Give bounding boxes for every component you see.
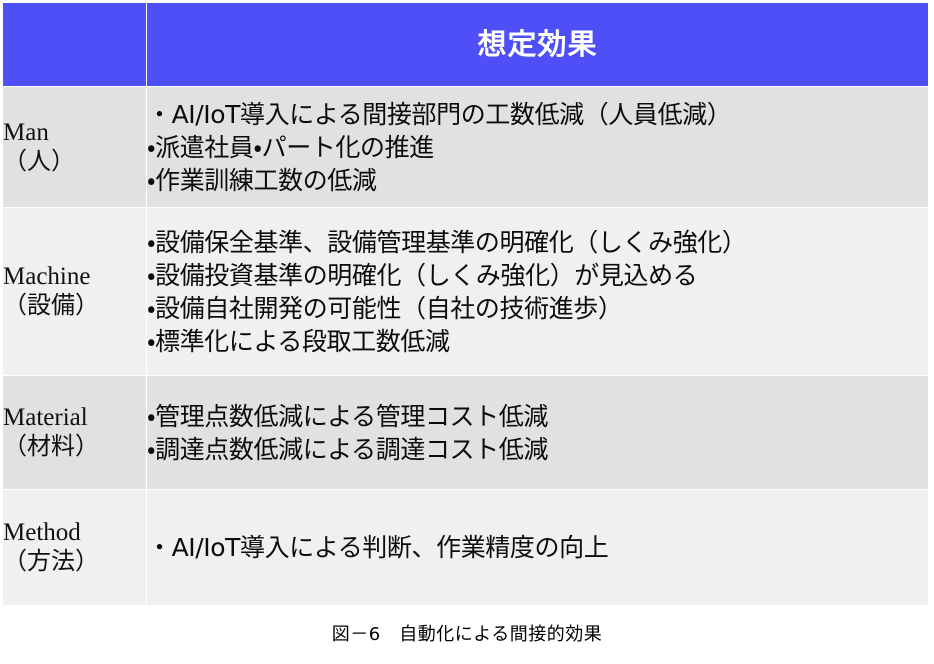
row-label-en: Machine [3,263,146,291]
list-item: ・AI/IoT導入による判断、作業精度の向上 [147,531,928,564]
header-title-text: 想定効果 [147,30,928,59]
header-row: 想定効果 [3,3,929,87]
row-content-method: ・AI/IoT導入による判断、作業精度の向上 [147,490,929,606]
row-label-man: Man （人） [3,87,147,208]
list-item: ・標準化による段取工数低減 [147,325,928,358]
list-item: ・作業訓練工数の低減 [147,164,928,197]
row-content-machine: ・設備保全基準、設備管理基準の明確化（しくみ強化） ・設備投資基準の明確化（しく… [147,208,929,376]
row-label-material: Material （材料） [3,376,147,490]
table-row: Man （人） ・AI/IoT導入による間接部門の工数低減（人員低減） ・派遣社… [3,87,929,208]
table-row: Method （方法） ・AI/IoT導入による判断、作業精度の向上 [3,490,929,606]
table-body: Man （人） ・AI/IoT導入による間接部門の工数低減（人員低減） ・派遣社… [3,87,929,606]
bullet-list: ・AI/IoT導入による判断、作業精度の向上 [147,531,928,564]
list-item: ・設備自社開発の可能性（自社の技術進歩） [147,292,928,325]
list-item: ・派遣社員・パート化の推進 [147,131,928,164]
row-label-jp: （設備） [3,291,146,320]
header-cell-title: 想定効果 [147,3,929,87]
row-label-jp: （材料） [3,432,146,461]
list-item: ・設備保全基準、設備管理基準の明確化（しくみ強化） [147,226,928,259]
row-label-machine: Machine （設備） [3,208,147,376]
list-item: ・設備投資基準の明確化（しくみ強化）が見込める [147,259,928,292]
row-label-method: Method （方法） [3,490,147,606]
list-item: ・管理点数低減による管理コスト低減 [147,400,928,433]
figure-caption: 図－6 自動化による間接的効果 [0,620,934,646]
table-row: Machine （設備） ・設備保全基準、設備管理基準の明確化（しくみ強化） ・… [3,208,929,376]
list-item: ・調達点数低減による調達コスト低減 [147,433,928,466]
bullet-list: ・設備保全基準、設備管理基準の明確化（しくみ強化） ・設備投資基準の明確化（しく… [147,226,928,358]
row-label-en: Material [3,404,146,432]
row-content-material: ・管理点数低減による管理コスト低減 ・調達点数低減による調達コスト低減 [147,376,929,490]
bullet-list: ・管理点数低減による管理コスト低減 ・調達点数低減による調達コスト低減 [147,400,928,466]
table-row: Material （材料） ・管理点数低減による管理コスト低減 ・調達点数低減に… [3,376,929,490]
table-header: 想定効果 [3,3,929,87]
header-cell-blank [3,3,147,87]
effects-table-container: 想定効果 Man （人） ・AI/IoT導入による間接部門の工数低減（人員低減）… [2,2,928,600]
row-label-jp: （方法） [3,547,146,576]
row-content-man: ・AI/IoT導入による間接部門の工数低減（人員低減） ・派遣社員・パート化の推… [147,87,929,208]
expected-effects-table: 想定効果 Man （人） ・AI/IoT導入による間接部門の工数低減（人員低減）… [2,2,929,606]
row-label-en: Method [3,519,146,547]
row-label-jp: （人） [3,147,146,176]
list-item: ・AI/IoT導入による間接部門の工数低減（人員低減） [147,98,928,131]
row-label-en: Man [3,119,146,147]
bullet-list: ・AI/IoT導入による間接部門の工数低減（人員低減） ・派遣社員・パート化の推… [147,98,928,197]
